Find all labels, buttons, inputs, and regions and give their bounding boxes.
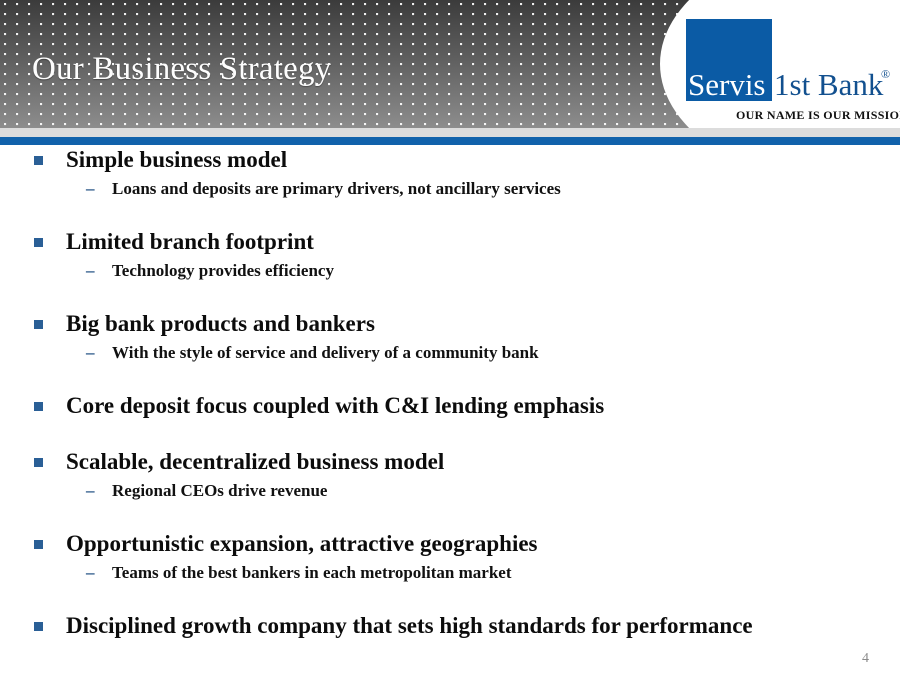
square-bullet-icon xyxy=(34,238,43,247)
bullet-level1-label: Disciplined growth company that sets hig… xyxy=(66,613,753,638)
bullet-group: Scalable, decentralized business model –… xyxy=(0,447,900,503)
bullet-level2: – Technology provides efficiency xyxy=(0,259,900,283)
bullet-group: Opportunistic expansion, attractive geog… xyxy=(0,529,900,585)
bullet-level1-label: Scalable, decentralized business model xyxy=(66,449,444,474)
bullet-level1: Scalable, decentralized business model xyxy=(0,447,900,477)
bullet-level2: – Teams of the best bankers in each metr… xyxy=(0,561,900,585)
bullet-level2-label: With the style of service and delivery o… xyxy=(112,343,539,362)
bullet-level1: Disciplined growth company that sets hig… xyxy=(0,611,900,641)
header-divider-blue xyxy=(0,137,900,145)
bullet-level1: Core deposit focus coupled with C&I lend… xyxy=(0,391,900,421)
dash-bullet-icon: – xyxy=(86,259,104,283)
bullet-level1-label: Big bank products and bankers xyxy=(66,311,375,336)
servis1st-bank-logo: Servis 1st Bank ® OUR NAME IS OUR MISSIO… xyxy=(674,14,896,128)
bullet-level2-label: Technology provides efficiency xyxy=(112,261,334,280)
bullet-level1-label: Limited branch footprint xyxy=(66,229,314,254)
bullet-level1-label: Core deposit focus coupled with C&I lend… xyxy=(66,393,604,418)
square-bullet-icon xyxy=(34,458,43,467)
square-bullet-icon xyxy=(34,320,43,329)
slide-header: Our Business Strategy Servis 1st Bank ® … xyxy=(0,0,900,128)
slide-number: 4 xyxy=(862,650,886,668)
square-bullet-icon xyxy=(34,156,43,165)
bullet-level2-label: Teams of the best bankers in each metrop… xyxy=(112,563,511,582)
bullet-level1: Limited branch footprint xyxy=(0,227,900,257)
page-title: Our Business Strategy xyxy=(32,49,331,89)
logo-wordmark: Servis 1st Bank ® xyxy=(674,66,894,104)
bullet-level1: Opportunistic expansion, attractive geog… xyxy=(0,529,900,559)
bullet-level2-label: Regional CEOs drive revenue xyxy=(112,481,327,500)
logo-servis-text: Servis xyxy=(688,66,766,104)
square-bullet-icon xyxy=(34,622,43,631)
logo-1st-bank-text: 1st Bank xyxy=(774,66,883,104)
bullet-level1: Big bank products and bankers xyxy=(0,309,900,339)
presentation-slide: Our Business Strategy Servis 1st Bank ® … xyxy=(0,0,900,677)
bullet-level2: – With the style of service and delivery… xyxy=(0,341,900,365)
dash-bullet-icon: – xyxy=(86,561,104,585)
bullet-level2-label: Loans and deposits are primary drivers, … xyxy=(112,179,561,198)
bullet-group: Limited branch footprint – Technology pr… xyxy=(0,227,900,283)
bullet-group: Core deposit focus coupled with C&I lend… xyxy=(0,391,900,421)
bullet-group: Disciplined growth company that sets hig… xyxy=(0,611,900,641)
registered-trademark-icon: ® xyxy=(881,68,890,80)
square-bullet-icon xyxy=(34,402,43,411)
dash-bullet-icon: – xyxy=(86,341,104,365)
bullet-level2: – Loans and deposits are primary drivers… xyxy=(0,177,900,201)
slide-body: Simple business model – Loans and deposi… xyxy=(0,145,900,677)
square-bullet-icon xyxy=(34,540,43,549)
logo-tagline: OUR NAME IS OUR MISSION. xyxy=(736,108,896,122)
bullet-level1-label: Opportunistic expansion, attractive geog… xyxy=(66,531,538,556)
bullet-group: Simple business model – Loans and deposi… xyxy=(0,145,900,201)
dash-bullet-icon: – xyxy=(86,479,104,503)
header-divider-gray xyxy=(0,128,900,137)
dash-bullet-icon: – xyxy=(86,177,104,201)
bullet-group: Big bank products and bankers – With the… xyxy=(0,309,900,365)
bullet-level1: Simple business model xyxy=(0,145,900,175)
bullet-level2: – Regional CEOs drive revenue xyxy=(0,479,900,503)
bullet-level1-label: Simple business model xyxy=(66,147,287,172)
